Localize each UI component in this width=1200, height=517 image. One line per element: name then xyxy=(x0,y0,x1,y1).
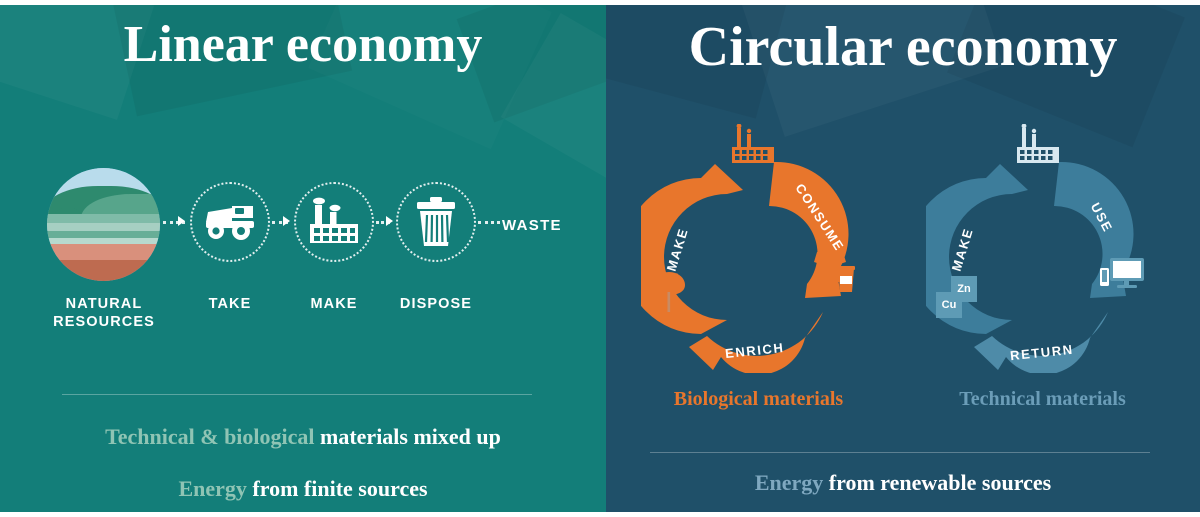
infographic-root: Linear economy Circular economy xyxy=(0,0,1200,517)
footer-plain-text: from finite sources xyxy=(247,476,428,501)
element-tile-cu: Cu xyxy=(936,292,962,318)
arrow-right-icon xyxy=(283,216,290,226)
arrow-right-icon xyxy=(386,216,393,226)
footer-accent-text: Energy xyxy=(178,476,246,501)
chain-label-make: MAKE xyxy=(288,295,380,313)
technical-materials-cycle: MAKE USE RETURN xyxy=(926,138,1161,373)
footer-accent-text: Energy xyxy=(755,470,823,495)
chain-label-natural-resources: NATURAL RESOURCES xyxy=(38,295,170,331)
landscape-layers-icon xyxy=(47,168,160,281)
footer-plain-text: materials mixed up xyxy=(315,424,501,449)
chain-label-line2: RESOURCES xyxy=(53,314,155,330)
chain-label-dispose: DISPOSE xyxy=(386,295,486,313)
ground-band xyxy=(47,231,160,238)
trash-can-icon xyxy=(396,182,476,262)
caption-biological-materials: Biological materials xyxy=(636,388,881,411)
page-title-linear: Linear economy xyxy=(0,19,606,71)
soil-layer xyxy=(47,244,160,260)
footer-line-materials: Technical & biological materials mixed u… xyxy=(0,424,606,450)
footer-plain-text: from renewable sources xyxy=(823,470,1051,495)
chain-label-waste: WASTE xyxy=(502,217,562,234)
caption-technical-materials: Technical materials xyxy=(920,388,1165,411)
chain-label-line1: NATURAL xyxy=(66,296,143,312)
element-tiles-icon: Zn Cu xyxy=(936,276,982,322)
chain-label-take: TAKE xyxy=(184,295,276,313)
biological-materials-cycle: MAKE CONSUME ENRICH xyxy=(641,138,876,373)
footer-accent-text: Technical & biological xyxy=(105,424,314,449)
ground-band xyxy=(47,223,160,231)
ground-band xyxy=(47,214,160,223)
factory-icon xyxy=(294,182,374,262)
footer-line-energy: Energy from finite sources xyxy=(0,476,606,502)
page-title-circular: Circular economy xyxy=(606,19,1200,75)
divider-left xyxy=(62,394,532,395)
arrow-right-icon xyxy=(178,216,185,226)
divider-right xyxy=(650,452,1150,453)
footer-line-energy-renewable: Energy from renewable sources xyxy=(606,470,1200,496)
dump-truck-icon xyxy=(190,182,270,262)
bedrock-layer xyxy=(47,260,160,281)
dotted-connector xyxy=(478,221,500,224)
